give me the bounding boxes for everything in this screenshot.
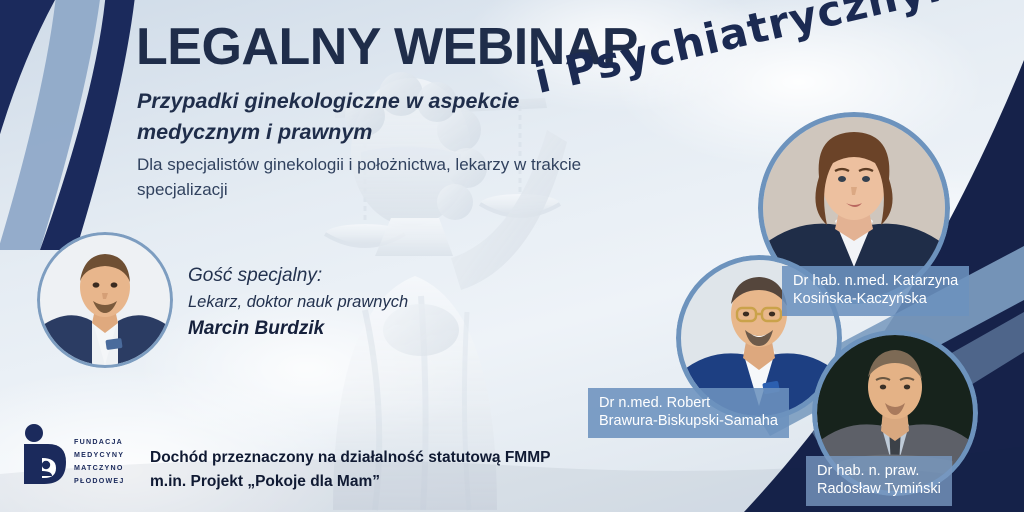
guest-label: Gość specjalny: bbox=[188, 262, 408, 290]
webinar-poster: LEGALNY WEBINAR i Psychiatrycznym Przypa… bbox=[0, 0, 1024, 512]
burdzik-portrait bbox=[37, 232, 173, 368]
robert-name-plate: Dr n.med. Robert Brawura-Biskupski-Samah… bbox=[588, 388, 789, 438]
guest-speaker-block: Gość specjalny: Lekarz, doktor nauk praw… bbox=[188, 262, 408, 344]
proceeds-line-1: Dochód przeznaczony na działalność statu… bbox=[150, 446, 550, 470]
foundation-wordmark: FUNDACJA MEDYCYNY MATCZYNO PŁODOWEJ bbox=[74, 436, 125, 488]
proceeds-line-2: m.in. Projekt „Pokoje dla Mam” bbox=[150, 470, 550, 494]
subtitle-audience: Dla specjalistów ginekologii i położnict… bbox=[137, 153, 587, 203]
katarzyna-name-plate: Dr hab. n.med. Katarzyna Kosińska-Kaczyń… bbox=[782, 266, 969, 316]
radoslaw-name-plate: Dr hab. n. praw. Radosław Tymiński bbox=[806, 456, 952, 506]
guest-name: Marcin Burdzik bbox=[188, 315, 408, 344]
mother-and-child-b-monogram-icon bbox=[18, 424, 70, 486]
burdzik-photo bbox=[40, 235, 170, 365]
subtitle-topic: Przypadki ginekologiczne w aspekcie medy… bbox=[137, 86, 557, 147]
proceeds-info: Dochód przeznaczony na działalność statu… bbox=[150, 446, 550, 494]
foundation-logo: FUNDACJA MEDYCYNY MATCZYNO PŁODOWEJ bbox=[18, 424, 136, 490]
guest-role: Lekarz, doktor nauk prawnych bbox=[188, 290, 408, 315]
